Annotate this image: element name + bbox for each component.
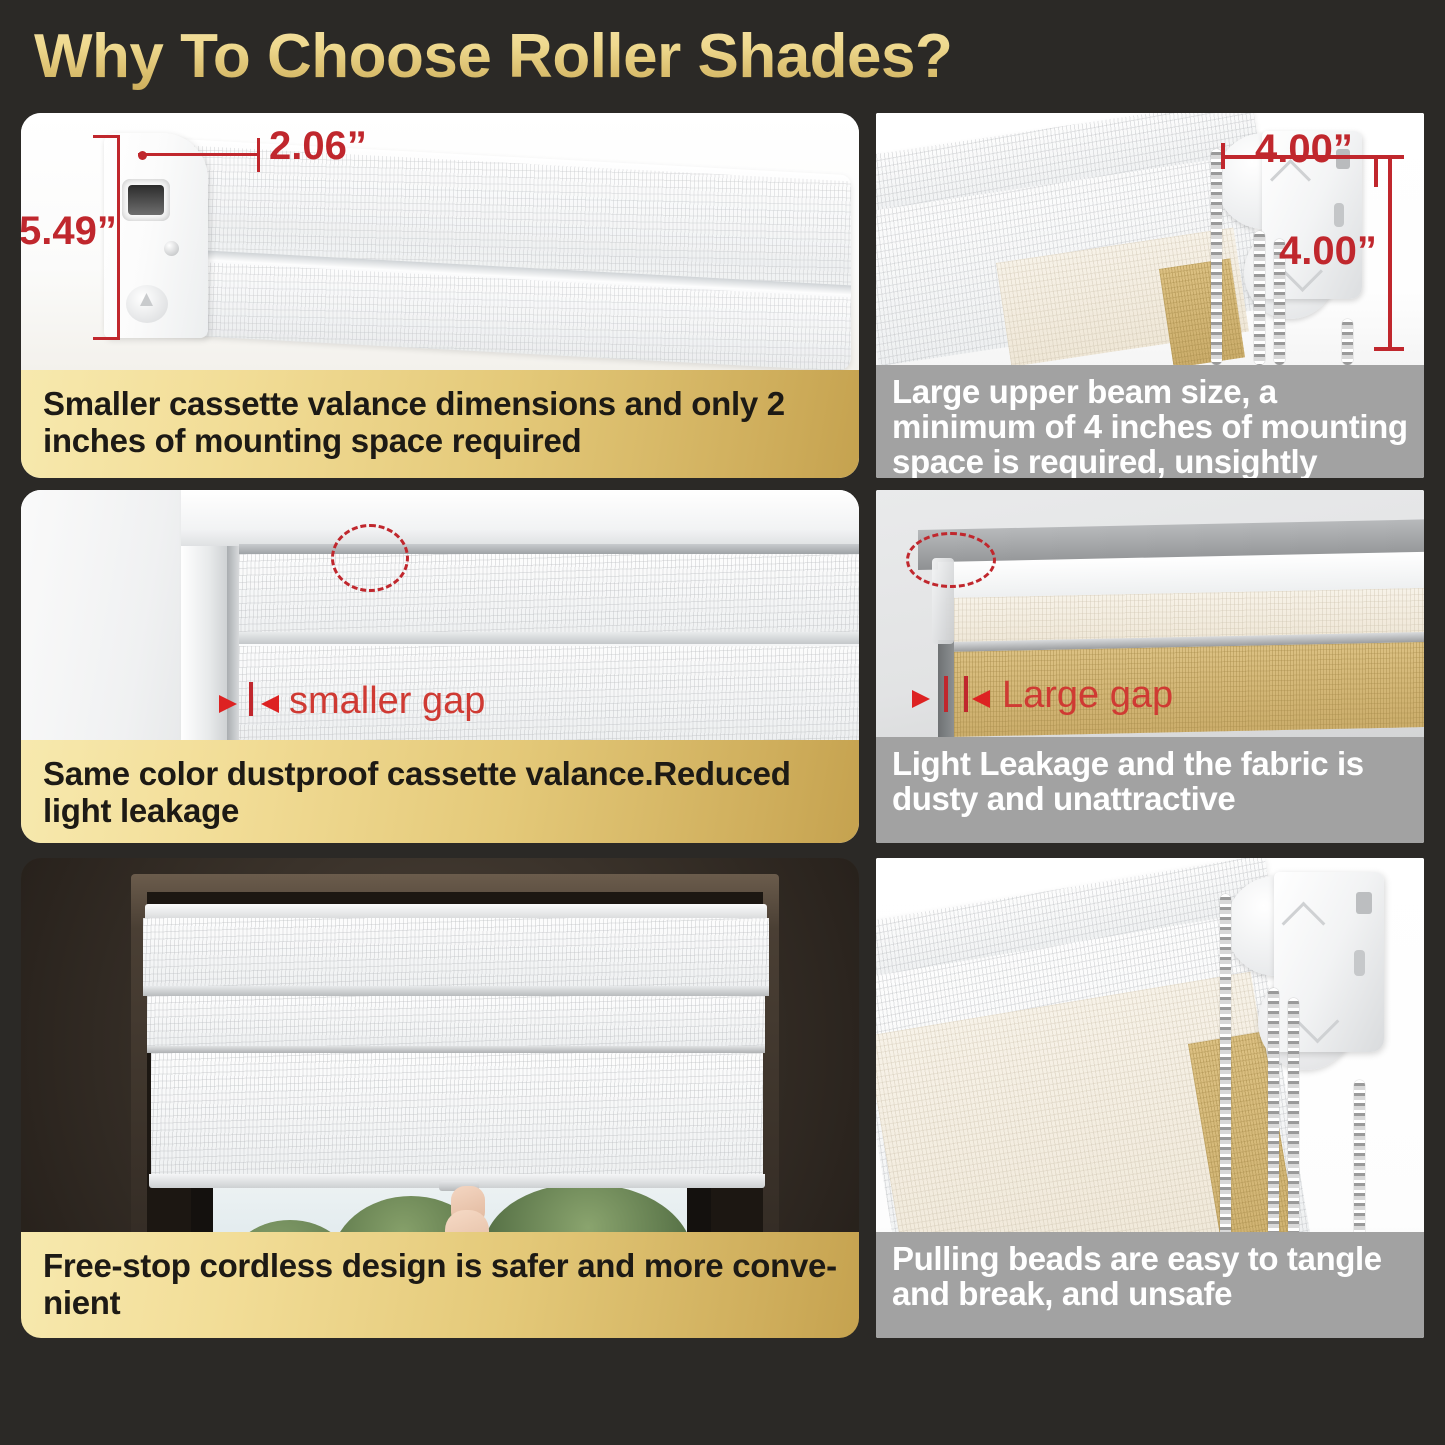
bead-chain-4 bbox=[1342, 319, 1353, 365]
height-dimension-line bbox=[117, 135, 120, 340]
gap-arrow-left bbox=[219, 695, 237, 713]
gap-label: smaller gap bbox=[289, 680, 485, 723]
width-dimension-label: 2.06” bbox=[269, 124, 367, 169]
valance-edge bbox=[147, 1046, 765, 1053]
caption-text: Pulling beads are easy to tangle and bre… bbox=[876, 1232, 1424, 1312]
caption-cassette-valance-dimensions: Smaller cassette valance dimensions and … bbox=[21, 370, 859, 478]
panel-large-upper-beam: 4.00” 4.00” Large upper beam size, a min… bbox=[876, 113, 1424, 478]
width-dimension-tick bbox=[257, 138, 260, 172]
cassette-valance bbox=[143, 918, 769, 990]
caption-text: Same color dustproof cassette valance.Re… bbox=[21, 740, 859, 830]
gap-tick-left bbox=[944, 676, 948, 712]
beam-height-tick-bottom bbox=[1374, 347, 1404, 351]
caption-text: Light Leakage and the fabric is dusty an… bbox=[876, 737, 1424, 817]
caption-text: Large upper beam size, a minimum of 4 in… bbox=[876, 365, 1424, 478]
caption-text: Smaller cassette valance dimensions and … bbox=[21, 370, 859, 460]
height-dimension-tick-bottom bbox=[93, 337, 120, 340]
cassette-valance-photo: 2.06” 5.49” bbox=[21, 113, 859, 370]
beam-height-tick-top bbox=[1374, 155, 1404, 159]
caption-text: Free-stop cordless design is safer and m… bbox=[21, 1232, 859, 1322]
bead-chain-1 bbox=[1211, 149, 1222, 365]
dustproof-valance-photo: smaller gap bbox=[21, 490, 859, 740]
beam-width-tick-left bbox=[1221, 143, 1225, 169]
large-beam-photo: 4.00” 4.00” bbox=[876, 113, 1424, 365]
window-head-casing bbox=[181, 490, 859, 546]
roller-bracket bbox=[1226, 870, 1396, 1088]
gap-arrow-right bbox=[261, 695, 279, 713]
height-dimension-tick-top bbox=[93, 135, 120, 138]
gap-tick bbox=[249, 682, 253, 716]
gap-highlight-ring bbox=[906, 532, 996, 588]
valance-bar bbox=[106, 135, 851, 370]
tight-fit-highlight-ring bbox=[331, 524, 409, 592]
panel-free-stop-cordless-design: Free-stop cordless design is safer and m… bbox=[21, 858, 859, 1338]
beam-height-label: 4.00” bbox=[1279, 229, 1377, 274]
light-leakage-photo: Large gap bbox=[876, 490, 1424, 737]
shade-fabric-main bbox=[151, 1053, 763, 1181]
gap-arrow-left bbox=[912, 690, 930, 708]
page-title: Why To Choose Roller Shades? bbox=[34, 18, 1234, 96]
panel-cassette-valance-dimensions: 2.06” 5.49” Smaller cassette valance dim… bbox=[21, 113, 859, 478]
caption-free-stop-cordless-design: Free-stop cordless design is safer and m… bbox=[21, 1232, 859, 1338]
gap-arrow-right bbox=[972, 690, 990, 708]
infographic-root: Why To Choose Roller Shades? bbox=[0, 0, 1445, 1445]
cassette-bottom-lip bbox=[239, 632, 859, 644]
height-dimension-label: 5.49” bbox=[21, 209, 117, 254]
panel-dustproof-cassette-valance: smaller gap Same color dustproof cassett… bbox=[21, 490, 859, 843]
cassette-lip bbox=[143, 986, 769, 996]
beam-width-label: 4.00” bbox=[1255, 127, 1353, 172]
panel-pulling-beads-unsafe: Pulling beads are easy to tangle and bre… bbox=[876, 858, 1424, 1338]
gap-label: Large gap bbox=[1002, 674, 1173, 717]
caption-pulling-beads-unsafe: Pulling beads are easy to tangle and bre… bbox=[876, 1232, 1424, 1338]
panel-light-leakage-dusty-fabric: Large gap Light Leakage and the fabric i… bbox=[876, 490, 1424, 843]
width-dimension-line bbox=[138, 153, 260, 156]
bead-chain-2 bbox=[1254, 231, 1265, 365]
caption-large-upper-beam: Large upper beam size, a minimum of 4 in… bbox=[876, 365, 1424, 478]
beam-height-line bbox=[1388, 155, 1392, 350]
gap-tick-right bbox=[964, 676, 968, 712]
valance-lower-face bbox=[147, 996, 765, 1048]
caption-dustproof-cassette-valance: Same color dustproof cassette valance.Re… bbox=[21, 740, 859, 843]
caption-light-leakage-dusty-fabric: Light Leakage and the fabric is dusty an… bbox=[876, 737, 1424, 843]
beam-width-tick-right bbox=[1374, 157, 1378, 187]
